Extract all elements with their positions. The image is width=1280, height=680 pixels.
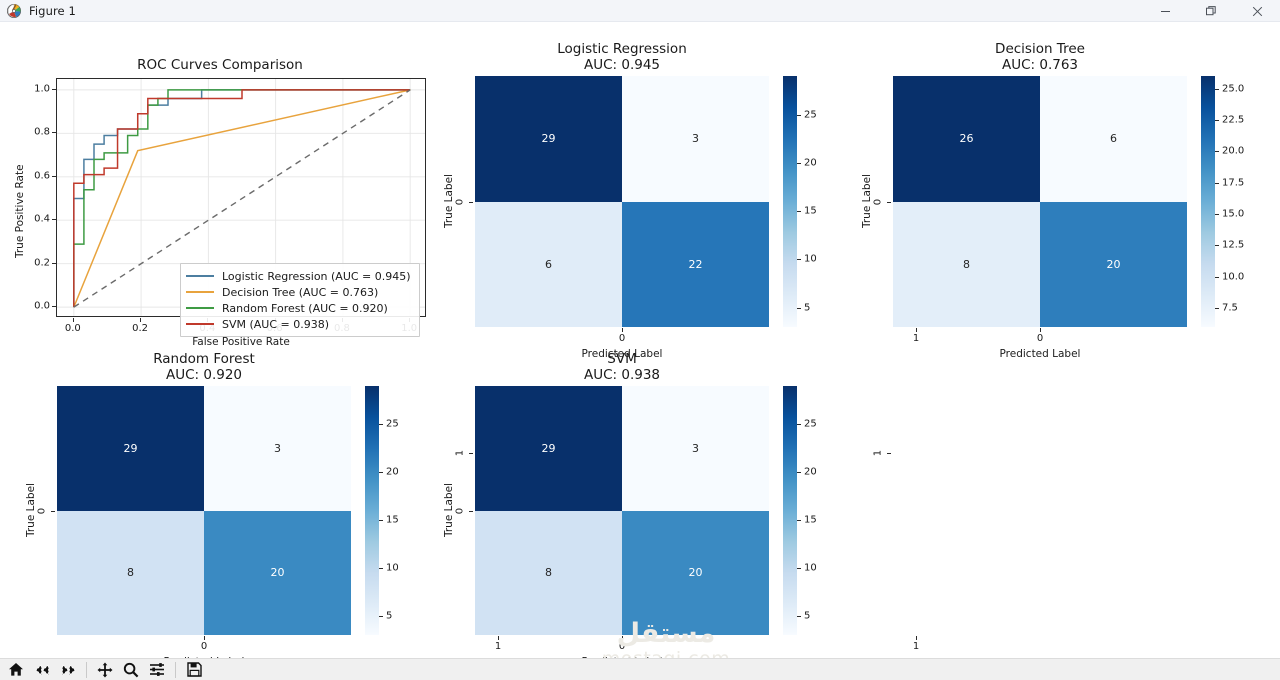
roc-panel-title: ROC Curves Comparison — [0, 58, 440, 73]
cm-logistic-regression-ytick-1: 1 — [455, 446, 466, 460]
figure-canvas[interactable]: مستقل mostaqi.com ROC Curves Comparison … — [0, 22, 1280, 658]
cm-decision-tree-title: Decision Tree — [893, 42, 1187, 57]
cm-svm-ytick-mark — [469, 511, 473, 512]
cm-logistic-regression-title: Logistic Regression — [475, 42, 769, 57]
cm-svm-colorbar[interactable] — [783, 386, 797, 635]
legend-color-swatch — [186, 275, 214, 277]
roc-xaxis-label: False Positive Rate — [56, 336, 426, 348]
cm-cell-1-1: 22 — [622, 202, 769, 328]
cm-svm-xtick-1: 1 — [901, 641, 931, 652]
roc-ytick-mark — [52, 89, 56, 90]
legend-item-label: Decision Tree (AUC = 0.763) — [222, 286, 378, 299]
zoom-magnifier-icon[interactable] — [119, 660, 143, 680]
minimize-button[interactable] — [1142, 0, 1188, 22]
cm-logistic-regression-cbar-tick — [797, 163, 801, 164]
cm-svm-cbar-tick — [797, 472, 801, 473]
roc-xtick-mark — [73, 318, 74, 322]
cm-decision-tree-cbar-tick — [1215, 120, 1219, 121]
cm-decision-tree-ytick-mark — [887, 453, 891, 454]
cm-svm-cbar-ticklabel: 20 — [804, 467, 817, 478]
cm-random-forest-xtick-0: 0 — [189, 641, 219, 652]
window-title: Figure 1 — [29, 4, 76, 18]
roc-ytick-mark — [52, 263, 56, 264]
cm-logistic-regression-ytick-mark — [469, 202, 473, 203]
save-floppy-icon[interactable] — [182, 660, 206, 680]
cm-random-forest-cbar-ticklabel: 20 — [386, 467, 399, 478]
cm-cell-0-0: 29 — [57, 386, 204, 511]
cm-logistic-regression-xtick-mark — [916, 328, 917, 332]
legend-color-swatch — [186, 291, 214, 293]
cm-random-forest-subtitle: AUC: 0.920 — [57, 368, 351, 383]
cm-logistic-regression-cbar-tick — [797, 308, 801, 309]
legend-item-svm[interactable]: SVM (AUC = 0.938) — [186, 316, 413, 332]
cm-logistic-regression-heatmap[interactable]: 293622 — [475, 76, 769, 327]
cm-svm-subtitle: AUC: 0.938 — [475, 368, 769, 383]
cm-random-forest-cbar-tick — [379, 568, 383, 569]
back-arrow-icon[interactable] — [30, 660, 54, 680]
cm-svm-cbar-ticklabel: 5 — [804, 610, 810, 621]
cm-svm-cbar-tick — [797, 616, 801, 617]
cm-decision-tree-cbar-ticklabel: 10.0 — [1222, 271, 1244, 282]
cm-random-forest-xtick-1: 1 — [483, 641, 513, 652]
cm-decision-tree-cbar-tick — [1215, 151, 1219, 152]
cm-svm-cbar-tick — [797, 424, 801, 425]
cm-cell-0-0: 29 — [475, 386, 622, 511]
cm-decision-tree-xaxis-label: Predicted Label — [893, 348, 1187, 360]
roc-ytick-mark — [52, 176, 56, 177]
legend-color-swatch — [186, 307, 214, 309]
cm-random-forest-cbar-tick — [379, 616, 383, 617]
cm-svm-heatmap[interactable]: 293820 — [475, 386, 769, 635]
cm-decision-tree-cbar-ticklabel: 22.5 — [1222, 114, 1244, 125]
roc-ytick-label: 0.8 — [14, 127, 50, 138]
cm-cell-1-1: 20 — [622, 511, 769, 636]
watermark-latin: mostaqi.com — [556, 648, 776, 658]
cm-logistic-regression-cbar-ticklabel: 15 — [804, 206, 817, 217]
navigation-toolbar — [0, 658, 1280, 680]
cm-svm-cbar-ticklabel: 25 — [804, 419, 817, 430]
cm-decision-tree-heatmap[interactable]: 266820 — [893, 76, 1187, 327]
cm-cell-1-1: 20 — [204, 511, 351, 636]
cm-logistic-regression-cbar-tick — [797, 211, 801, 212]
cm-svm-ytick-0: 0 — [455, 504, 466, 518]
cm-cell-0-1: 3 — [622, 386, 769, 511]
cm-decision-tree-ytick-mark — [887, 202, 891, 203]
cm-logistic-regression-colorbar[interactable] — [783, 76, 797, 327]
legend-item-logistic-regression[interactable]: Logistic Regression (AUC = 0.945) — [186, 268, 413, 284]
cm-logistic-regression-cbar-tick — [797, 115, 801, 116]
cm-logistic-regression-subtitle: AUC: 0.945 — [475, 58, 769, 73]
roc-curves-panel: ROC Curves Comparison 0.00.20.40.60.81.0… — [0, 48, 440, 358]
roc-legend[interactable]: Logistic Regression (AUC = 0.945)Decisio… — [180, 263, 420, 337]
roc-xtick-label: 0.0 — [53, 323, 93, 334]
cm-decision-tree-cbar-ticklabel: 17.5 — [1222, 177, 1244, 188]
cm-logistic-regression-ytick-mark — [469, 453, 473, 454]
toolbar-divider-2 — [175, 662, 176, 678]
legend-item-label: Random Forest (AUC = 0.920) — [222, 302, 388, 315]
window-titlebar: Figure 1 — [0, 0, 1280, 22]
cm-decision-tree-cbar-ticklabel: 12.5 — [1222, 240, 1244, 251]
roc-ytick-mark — [52, 132, 56, 133]
cm-decision-tree-xtick-mark — [1040, 328, 1041, 332]
roc-ytick-mark — [52, 219, 56, 220]
cm-logistic-regression-ytick-0: 0 — [455, 195, 466, 209]
cm-random-forest-cbar-ticklabel: 10 — [386, 562, 399, 573]
roc-xtick-label: 0.2 — [120, 323, 160, 334]
cm-logistic-regression-xtick-0: 0 — [607, 333, 637, 344]
toolbar-divider-1 — [86, 662, 87, 678]
cm-cell-1-1: 20 — [1040, 202, 1187, 328]
cm-random-forest-xtick-mark — [498, 636, 499, 640]
figure-window: Figure 1 مستقل mostaqi.com — [0, 0, 1280, 680]
cm-random-forest-cbar-ticklabel: 5 — [386, 610, 392, 621]
roc-ytick-label: 1.0 — [14, 83, 50, 94]
cm-random-forest-cbar-ticklabel: 15 — [386, 515, 399, 526]
legend-item-label: Logistic Regression (AUC = 0.945) — [222, 270, 411, 283]
cm-decision-tree-cbar-ticklabel: 15.0 — [1222, 209, 1244, 220]
cm-cell-1-0: 6 — [475, 202, 622, 328]
cm-decision-tree-cbar-tick — [1215, 277, 1219, 278]
pan-move-icon[interactable] — [93, 660, 117, 680]
cm-svm-cbar-ticklabel: 15 — [804, 515, 817, 526]
home-icon[interactable] — [4, 660, 28, 680]
cm-random-forest-heatmap[interactable]: 293820 — [57, 386, 351, 635]
roc-ytick-mark — [52, 306, 56, 307]
forward-arrow-icon[interactable] — [56, 660, 80, 680]
cm-random-forest-yaxis-label: True Label — [25, 483, 37, 537]
cm-svm-cbar-ticklabel: 10 — [804, 562, 817, 573]
cm-random-forest-ytick-0: 0 — [37, 504, 48, 518]
cm-cell-0-1: 3 — [622, 76, 769, 202]
cm-decision-tree-cbar-tick — [1215, 89, 1219, 90]
legend-item-random-forest[interactable]: Random Forest (AUC = 0.920) — [186, 300, 413, 316]
cm-logistic-regression-cbar-ticklabel: 20 — [804, 157, 817, 168]
legend-item-decision-tree[interactable]: Decision Tree (AUC = 0.763) — [186, 284, 413, 300]
maximize-restore-button[interactable] — [1188, 0, 1234, 22]
cm-logistic-regression-cbar-tick — [797, 259, 801, 260]
cm-random-forest-cbar-tick — [379, 472, 383, 473]
cm-logistic-regression-yaxis-label: True Label — [443, 174, 455, 228]
cm-decision-tree-ytick-0: 0 — [873, 195, 884, 209]
cm-svm-xtick-mark — [622, 636, 623, 640]
cm-svm-cbar-tick — [797, 568, 801, 569]
cm-random-forest-cbar-tick — [379, 520, 383, 521]
cm-random-forest-xtick-mark — [204, 636, 205, 640]
cm-random-forest-cbar-tick — [379, 424, 383, 425]
matplotlib-logo-icon — [6, 3, 22, 19]
cm-svm-yaxis-label: True Label — [443, 483, 455, 537]
cm-svm-xtick-0: 0 — [607, 641, 637, 652]
cm-cell-0-1: 3 — [204, 386, 351, 511]
cm-cell-0-1: 6 — [1040, 76, 1187, 202]
cm-random-forest-colorbar[interactable] — [365, 386, 379, 635]
roc-ytick-label: 0.0 — [14, 301, 50, 312]
roc-xtick-mark — [140, 318, 141, 322]
cm-decision-tree-cbar-tick — [1215, 214, 1219, 215]
cm-decision-tree-cbar-tick — [1215, 308, 1219, 309]
cm-random-forest-cbar-ticklabel: 25 — [386, 419, 399, 430]
cm-decision-tree-cbar-ticklabel: 20.0 — [1222, 146, 1244, 157]
cm-decision-tree-cbar-ticklabel: 25.0 — [1222, 83, 1244, 94]
roc-ytick-label: 0.2 — [14, 257, 50, 268]
cm-cell-0-0: 29 — [475, 76, 622, 202]
cm-svm-title: SVM — [475, 352, 769, 367]
cm-logistic-regression-xtick-1: 1 — [901, 333, 931, 344]
cm-decision-tree-colorbar[interactable] — [1201, 76, 1215, 327]
cm-logistic-regression-cbar-ticklabel: 25 — [804, 109, 817, 120]
close-button[interactable] — [1234, 0, 1280, 22]
cm-cell-1-0: 8 — [57, 511, 204, 636]
cm-decision-tree-yaxis-label: True Label — [861, 174, 873, 228]
roc-yaxis-label: True Positive Rate — [14, 164, 26, 258]
cm-decision-tree-xtick-0: 0 — [1025, 333, 1055, 344]
cm-random-forest-ytick-mark — [51, 511, 55, 512]
cm-decision-tree-cbar-tick — [1215, 245, 1219, 246]
cm-logistic-regression-xtick-mark — [622, 328, 623, 332]
cm-cell-1-0: 8 — [893, 202, 1040, 328]
cm-decision-tree-cbar-ticklabel: 7.5 — [1222, 303, 1238, 314]
cm-logistic-regression-cbar-ticklabel: 10 — [804, 254, 817, 265]
cm-cell-0-0: 26 — [893, 76, 1040, 202]
cm-decision-tree-ytick-1: 1 — [873, 446, 884, 460]
configure-subplots-icon[interactable] — [145, 660, 169, 680]
cm-decision-tree-subtitle: AUC: 0.763 — [893, 58, 1187, 73]
window-controls — [1142, 0, 1280, 22]
cm-logistic-regression-xaxis-label: Predicted Label — [475, 348, 769, 360]
cm-svm-cbar-tick — [797, 520, 801, 521]
legend-item-label: SVM (AUC = 0.938) — [222, 318, 329, 331]
cm-svm-xtick-mark — [916, 636, 917, 640]
cm-logistic-regression-cbar-ticklabel: 5 — [804, 302, 810, 313]
cm-cell-1-0: 8 — [475, 511, 622, 636]
legend-color-swatch — [186, 323, 214, 325]
cm-decision-tree-cbar-tick — [1215, 183, 1219, 184]
